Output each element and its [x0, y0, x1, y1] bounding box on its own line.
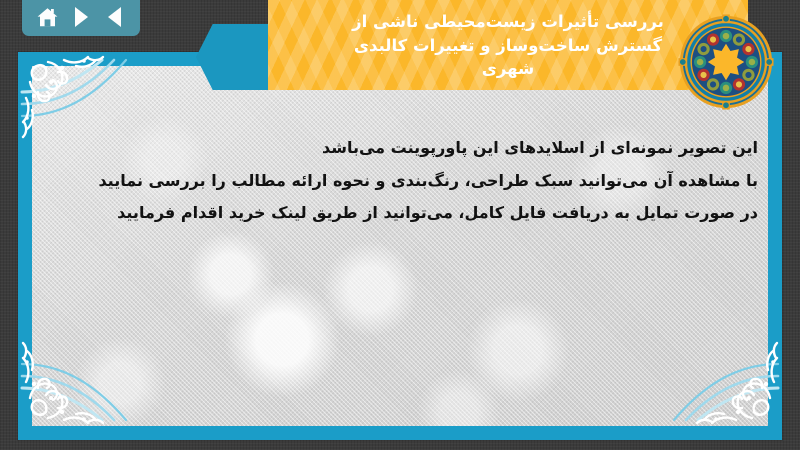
- nav-back-button[interactable]: [101, 5, 127, 29]
- triangle-left-icon: [108, 7, 121, 27]
- body-line-1: این تصویر نمونه‌ای از اسلایدهای این پاور…: [40, 136, 758, 160]
- nav-home-button[interactable]: [35, 5, 61, 29]
- slide-body-text: این تصویر نمونه‌ای از اسلایدهای این پاور…: [30, 136, 770, 225]
- home-icon: [36, 7, 59, 28]
- content-frame: [18, 52, 782, 440]
- nav-forward-button[interactable]: [68, 5, 94, 29]
- body-line-2: با مشاهده آن می‌توانید سبک طراحی، رنگ‌بن…: [40, 169, 758, 193]
- triangle-right-icon: [75, 7, 88, 27]
- slide-title-line-3: شهری: [482, 58, 535, 81]
- navigation-bar: [22, 0, 140, 36]
- slide-stage: بررسی تأثیرات زیست‌محیطی ناشی از گسترش س…: [0, 0, 800, 450]
- body-line-3: در صورت تمایل به دریافت فایل کامل، می‌تو…: [40, 201, 758, 225]
- title-banner: بررسی تأثیرات زیست‌محیطی ناشی از گسترش س…: [268, 0, 748, 90]
- slide-title-line-2: گسترش ساخت‌وساز و تغییرات کالبدی: [354, 35, 662, 58]
- persian-mandala-medallion-icon: [678, 14, 774, 110]
- slide-title-line-1: بررسی تأثیرات زیست‌محیطی ناشی از: [352, 11, 664, 34]
- content-background: [32, 66, 768, 426]
- slide-title: بررسی تأثیرات زیست‌محیطی ناشی از گسترش س…: [268, 0, 748, 90]
